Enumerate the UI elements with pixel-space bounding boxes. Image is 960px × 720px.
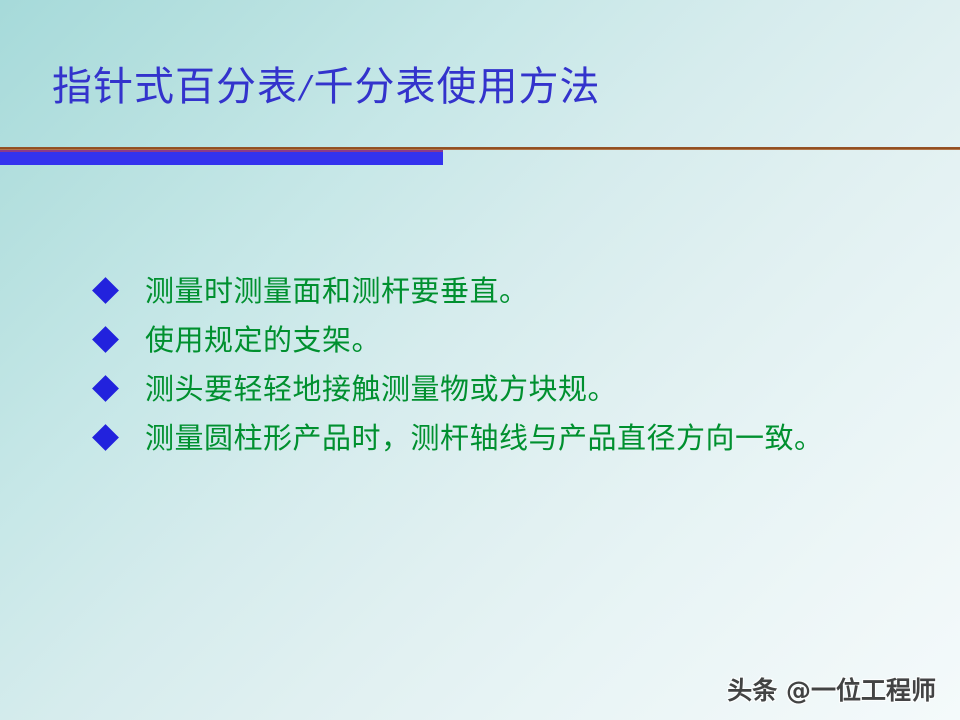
- list-item-label: 测头要轻轻地接触测量物或方块规。: [145, 372, 916, 406]
- title-area: 指针式百分表/千分表使用方法: [0, 58, 960, 130]
- page-title-suffix: 千分表使用方法: [314, 64, 601, 110]
- list-item: 测量时测量面和测杆要垂直。: [96, 266, 916, 315]
- list-item-label: 使用规定的支架。: [145, 323, 916, 357]
- list-item: 使用规定的支架。: [96, 315, 916, 364]
- diamond-bullet-icon: [92, 424, 119, 451]
- page-title-separator: /: [298, 67, 314, 109]
- diamond-bullet-icon: [92, 277, 119, 304]
- watermark: 头条 @一位工程师: [727, 676, 936, 706]
- diamond-bullet-icon: [92, 375, 119, 402]
- diamond-bullet-icon: [92, 326, 119, 353]
- bullet-list: 测量时测量面和测杆要垂直。 使用规定的支架。 测头要轻轻地接触测量物或方块规。 …: [96, 266, 916, 462]
- list-item: 测头要轻轻地接触测量物或方块规。: [96, 364, 916, 413]
- page-title: 指针式百分表/千分表使用方法: [52, 58, 601, 117]
- list-item-label: 测量圆柱形产品时，测杆轴线与产品直径方向一致。: [145, 421, 916, 455]
- slide-canvas: 指针式百分表/千分表使用方法 测量时测量面和测杆要垂直。 使用规定的支架。 测头…: [0, 0, 960, 720]
- list-item-label: 测量时测量面和测杆要垂直。: [145, 274, 916, 308]
- list-item: 测量圆柱形产品时，测杆轴线与产品直径方向一致。: [96, 413, 916, 462]
- page-title-prefix: 指针式百分表: [52, 64, 298, 110]
- divider-accent-bar: [0, 150, 443, 165]
